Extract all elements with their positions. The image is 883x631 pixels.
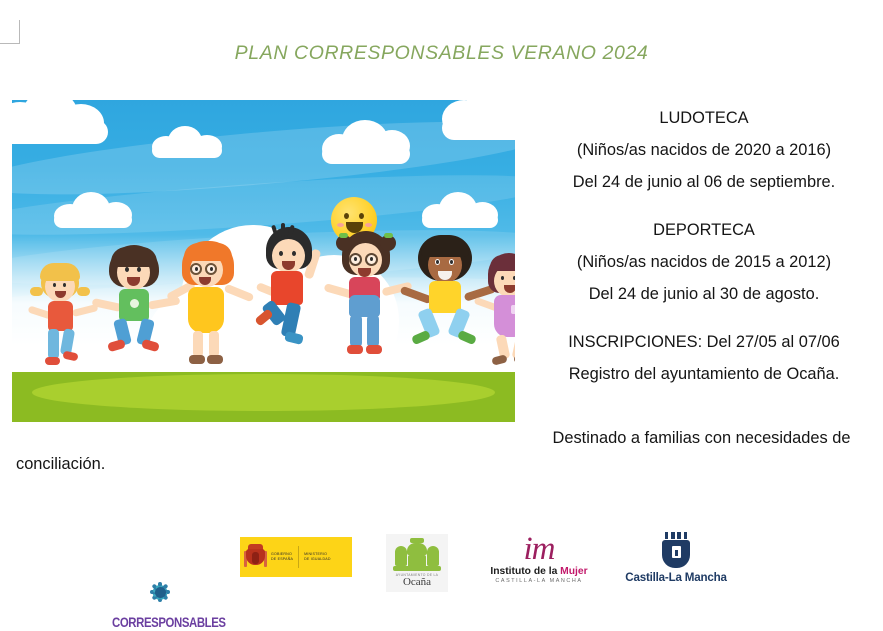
logo-gobierno-text: GOBIERNO DE ESPAÑA [271,552,293,563]
ocana-name: Ocaña [386,577,448,588]
jumping-children-group [12,195,515,375]
destinatarios-line-2: conciliación. [16,449,516,481]
logo-gobierno-de-espana: GOBIERNO DE ESPAÑA MINISTERIO DE IGUALDA… [240,537,352,577]
ludoteca-heading: LUDOTECA [525,103,883,135]
cloud-icon [12,100,116,142]
instituto-mujer-name: Instituto de la Mujer [484,566,594,577]
deporteca-ages: (Niños/as nacidos de 2015 a 2012) [525,247,883,279]
logo-instituto-de-la-mujer: im Instituto de la Mujer CASTILLA-LA MAN… [484,534,594,584]
castle-shield-icon [662,532,690,568]
child-figure [100,243,174,375]
im-monogram-icon: im [484,534,594,565]
instituto-mujer-region: CASTILLA-LA MANCHA [484,578,594,584]
ministerio-line-2: DE IGUALDAD [304,557,331,562]
page-title: PLAN CORRESPONSABLES VERANO 2024 [0,42,883,65]
grass-highlight [32,374,495,411]
deporteca-dates: Del 24 de junio al 30 de agosto. [525,279,883,311]
deporteca-heading: DEPORTECA [525,215,883,247]
logo-ayuntamiento-ocana: AYUNTAMIENTO DE LA Ocaña [386,534,448,592]
document-page: PLAN CORRESPONSABLES VERANO 2024 [0,0,883,631]
ludoteca-ages: (Niños/as nacidos de 2020 a 2016) [525,135,883,167]
page-margin-corner-marker [0,20,20,44]
children-illustration [12,100,515,422]
inscripciones-dates: INSCRIPCIONES: Del 27/05 al 07/06 [525,327,883,359]
section-spacer [525,311,883,327]
child-figure [32,257,94,375]
shield-crenellations [665,532,687,539]
child-figure [172,235,248,375]
destinatarios-line-1: Destinado a familias con necesidades de [520,423,883,455]
inscripciones-place: Registro del ayuntamiento de Ocaña. [525,359,883,391]
grass-field [12,372,515,422]
program-details: LUDOTECA (Niños/as nacidos de 2020 a 201… [525,103,883,391]
section-spacer [525,199,883,215]
logo-ministerio-text: MINISTERIO DE IGUALDAD [304,552,331,563]
castilla-la-mancha-name: Castilla-La Mancha [622,571,730,584]
gobierno-line-2: DE ESPAÑA [271,557,293,562]
ocana-coat-of-arms-icon [393,538,441,572]
cloud-icon [152,126,224,158]
logo-corresponsables-wordmark: CORRESPONSABLES [112,616,208,631]
logo-corresponsables: CORRESPONSABLES [112,570,208,629]
starburst-icon [138,570,182,614]
instituto-mujer-name-accent: Mujer [560,566,587,577]
ludoteca-dates: Del 24 de junio al 06 de septiembre. [525,167,883,199]
cloud-icon [442,100,515,140]
child-figure [254,225,332,375]
logo-divider [298,546,299,568]
child-figure [332,225,406,375]
instituto-mujer-name-plain: Instituto de la [490,566,560,577]
institutional-logos-row: CORRESPONSABLES GOBIERNO DE ESPAÑA MINIS… [0,512,883,631]
child-figure [480,249,515,375]
logo-castilla-la-mancha: Castilla-La Mancha [622,532,730,584]
cloud-icon [322,120,412,164]
spain-coat-of-arms-icon [245,544,266,571]
